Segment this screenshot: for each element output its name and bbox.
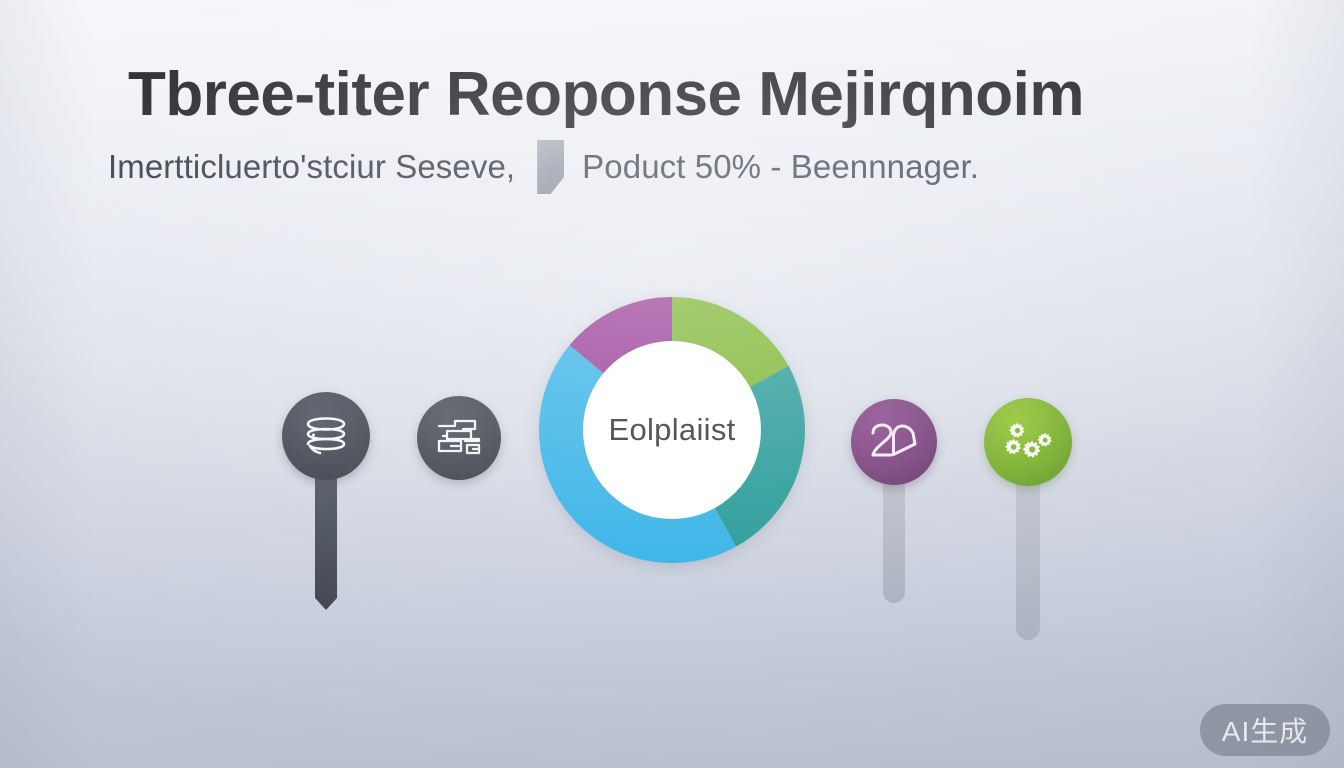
subtitle-part-1: Imertticluerto'stciur Seseve,	[108, 146, 515, 187]
donut-chart: Eolplaiist	[539, 297, 805, 563]
poster-canvas: Tbree-titer Reoponse Mejirqnoim Imerttic…	[0, 0, 1344, 768]
pin-bubble[interactable]	[282, 392, 370, 480]
pin-marker-gears[interactable]	[984, 398, 1072, 646]
pin-marker-database[interactable]	[282, 392, 370, 620]
gear-cluster-icon	[1000, 420, 1056, 464]
server-rack-icon	[433, 417, 485, 459]
donut-center-hole: Eolplaiist	[583, 341, 761, 519]
page-title: Tbree-titer Reoponse Mejirqnoim	[128, 60, 1268, 129]
donut-center-label: Eolplaiist	[608, 412, 735, 448]
pin-bubble[interactable]	[417, 396, 501, 480]
subtitle: Imertticluerto'stciur Seseve, Poduct 50%…	[108, 140, 979, 194]
shield-marker-icon	[537, 140, 564, 194]
stacked-database-icon	[300, 414, 352, 458]
pin-bubble[interactable]	[851, 399, 937, 485]
pin-bubble[interactable]	[984, 398, 1072, 486]
two-g-glyph-icon	[866, 420, 922, 464]
pin-marker-2g[interactable]	[851, 399, 937, 611]
subtitle-part-2: Poduct 50% - Beennnager.	[582, 146, 979, 187]
pin-marker-server[interactable]	[417, 396, 501, 480]
watermark-label: AI生成	[1222, 710, 1308, 750]
ai-generated-watermark: AI生成	[1200, 704, 1330, 756]
